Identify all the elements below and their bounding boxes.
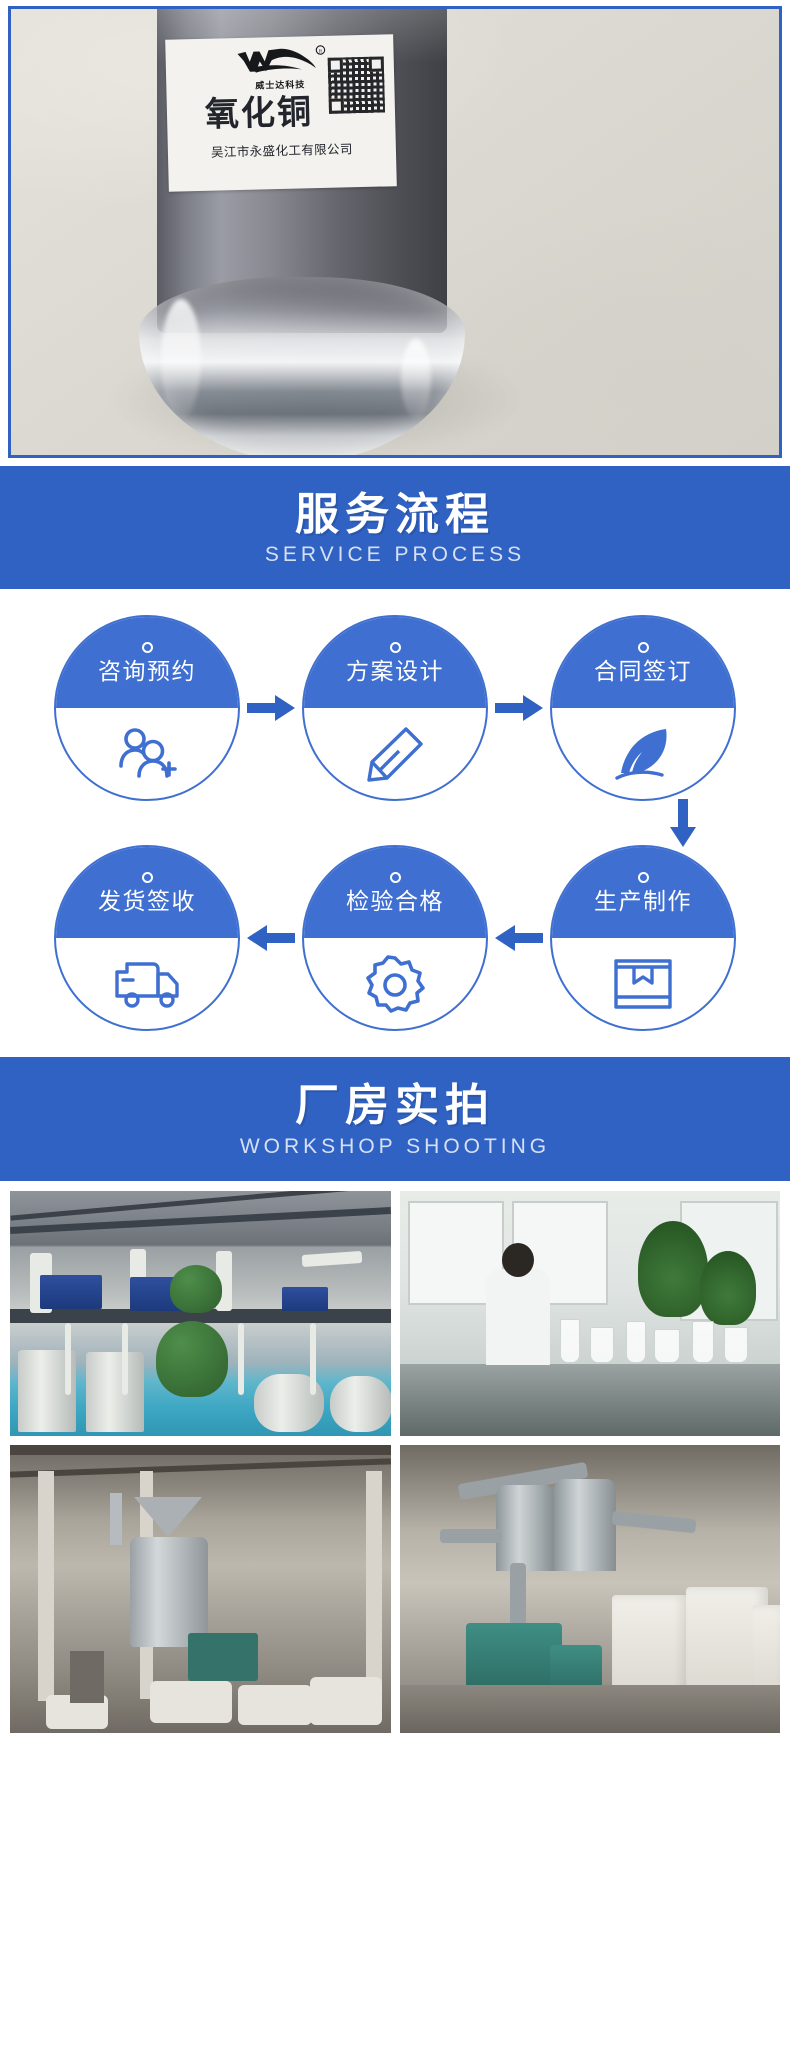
white-sack: [238, 1685, 312, 1725]
support-post: [238, 1323, 244, 1395]
flask: [692, 1321, 714, 1363]
process-step-header: 检验合格: [304, 847, 486, 938]
storage-tank: [86, 1352, 144, 1432]
support-post: [310, 1323, 316, 1395]
support-post: [122, 1323, 128, 1395]
dryer-cone: [134, 1497, 202, 1537]
process-step-label: 检验合格: [346, 890, 444, 913]
quill-pen-icon: [552, 708, 734, 799]
qr-eye-top-right: [369, 56, 384, 71]
process-step-contract-signing[interactable]: 合同签订: [550, 615, 736, 801]
support-post: [65, 1323, 71, 1395]
photo-dryer-hall[interactable]: [10, 1445, 391, 1733]
process-step-consultation[interactable]: 咨询预约: [54, 615, 240, 801]
overhead-duct: [302, 1250, 363, 1266]
process-step-inspection[interactable]: 检验合格: [302, 845, 488, 1031]
green-reactor-head: [170, 1265, 222, 1313]
air-duct: [611, 1510, 696, 1533]
dryer-vessel: [130, 1537, 208, 1647]
product-detail-page: R 威士达科技 氧化铜 吴江市永盛化工有限公司 服务流程 SERVICE PRO…: [0, 0, 790, 1745]
package-box-icon: [552, 938, 734, 1029]
cyclone-separator: [554, 1479, 616, 1571]
blue-motor-unit: [282, 1287, 328, 1311]
process-step-label: 合同签订: [594, 660, 692, 683]
beaker: [724, 1327, 748, 1363]
process-step-header: 合同签订: [552, 617, 734, 708]
jar-highlight-right: [401, 339, 431, 419]
white-sack: [310, 1677, 382, 1725]
add-user-icon: [56, 708, 238, 799]
process-step-production[interactable]: 生产制作: [550, 845, 736, 1031]
photo-laboratory[interactable]: [400, 1191, 781, 1436]
dryer-duct: [110, 1493, 122, 1545]
hero-photo-frame: R 威士达科技 氧化铜 吴江市永盛化工有限公司: [8, 6, 782, 458]
banner-title-en: WORKSHOP SHOOTING: [0, 1135, 790, 1159]
wall-column: [366, 1471, 382, 1701]
step-dot-icon: [142, 642, 153, 653]
process-step-header: 生产制作: [552, 847, 734, 938]
white-sack: [150, 1681, 232, 1723]
arrow-left-icon: [488, 923, 550, 953]
process-step-header: 发货签收: [56, 847, 238, 938]
gear-icon: [304, 938, 486, 1029]
workshop-floor: [400, 1685, 781, 1733]
pencil-icon: [304, 708, 486, 799]
qr-code-icon: [328, 56, 385, 113]
process-step-label: 生产制作: [594, 890, 692, 913]
section-banner-workshop-shooting: 厂房实拍 WORKSHOP SHOOTING: [0, 1057, 790, 1180]
flask: [560, 1319, 580, 1363]
wall-column: [38, 1471, 54, 1701]
air-duct: [440, 1529, 502, 1543]
blue-motor-unit: [40, 1275, 102, 1309]
wsd-logo-icon: R: [231, 44, 328, 76]
hero-product-photo: R 威士达科技 氧化铜 吴江市永盛化工有限公司: [0, 0, 790, 466]
process-step-header: 咨询预约: [56, 617, 238, 708]
arrow-down-icon: [12, 799, 790, 847]
section-banner-service-process: 服务流程 SERVICE PROCESS: [0, 466, 790, 589]
process-step-label: 方案设计: [346, 660, 444, 683]
step-dot-icon: [142, 872, 153, 883]
arrow-left-icon: [240, 923, 302, 953]
process-step-header: 方案设计: [304, 617, 486, 708]
qr-eye-top-left: [328, 57, 343, 72]
roof-edge: [10, 1445, 391, 1455]
horizontal-tank: [330, 1376, 391, 1432]
photo-mill-bagging[interactable]: [400, 1445, 781, 1733]
photo-reactor-hall[interactable]: [10, 1191, 391, 1436]
technician-head: [502, 1243, 534, 1277]
process-step-label: 发货签收: [98, 890, 196, 913]
banner-title-cn: 服务流程: [0, 490, 790, 539]
process-step-delivery[interactable]: 发货签收: [54, 845, 240, 1031]
banner-title-en: SERVICE PROCESS: [0, 543, 790, 567]
arrow-right-icon: [240, 693, 302, 723]
green-reactor-vessel: [156, 1321, 228, 1397]
potted-plant: [700, 1251, 756, 1325]
process-row-2: 发货签收: [12, 845, 778, 1031]
process-step-label: 咨询预约: [98, 660, 196, 683]
lab-bench: [400, 1364, 781, 1436]
banner-title-cn: 厂房实拍: [0, 1081, 790, 1130]
flask: [590, 1327, 614, 1363]
step-dot-icon: [390, 872, 401, 883]
process-row-1: 咨询预约: [12, 615, 778, 801]
product-label: R 威士达科技 氧化铜 吴江市永盛化工有限公司: [165, 34, 397, 192]
technician-body: [486, 1269, 550, 1365]
step-dot-icon: [638, 642, 649, 653]
potted-plant: [638, 1221, 708, 1317]
workshop-photo-grid: [0, 1181, 790, 1745]
process-step-scheme-design[interactable]: 方案设计: [302, 615, 488, 801]
jar-highlight-left: [161, 299, 201, 419]
cyclone-separator: [496, 1485, 554, 1571]
company-name: 吴江市永盛化工有限公司: [178, 138, 386, 162]
flask: [626, 1321, 646, 1363]
arrow-right-icon: [488, 693, 550, 723]
roof-truss: [10, 1458, 390, 1477]
beaker: [654, 1329, 680, 1363]
delivery-truck-icon: [56, 938, 238, 1029]
service-process-flow: 咨询预约: [0, 589, 790, 1057]
crate: [70, 1651, 104, 1703]
step-dot-icon: [638, 872, 649, 883]
step-dot-icon: [390, 642, 401, 653]
green-machine: [188, 1633, 258, 1681]
qr-eye-bottom-left: [329, 98, 344, 113]
